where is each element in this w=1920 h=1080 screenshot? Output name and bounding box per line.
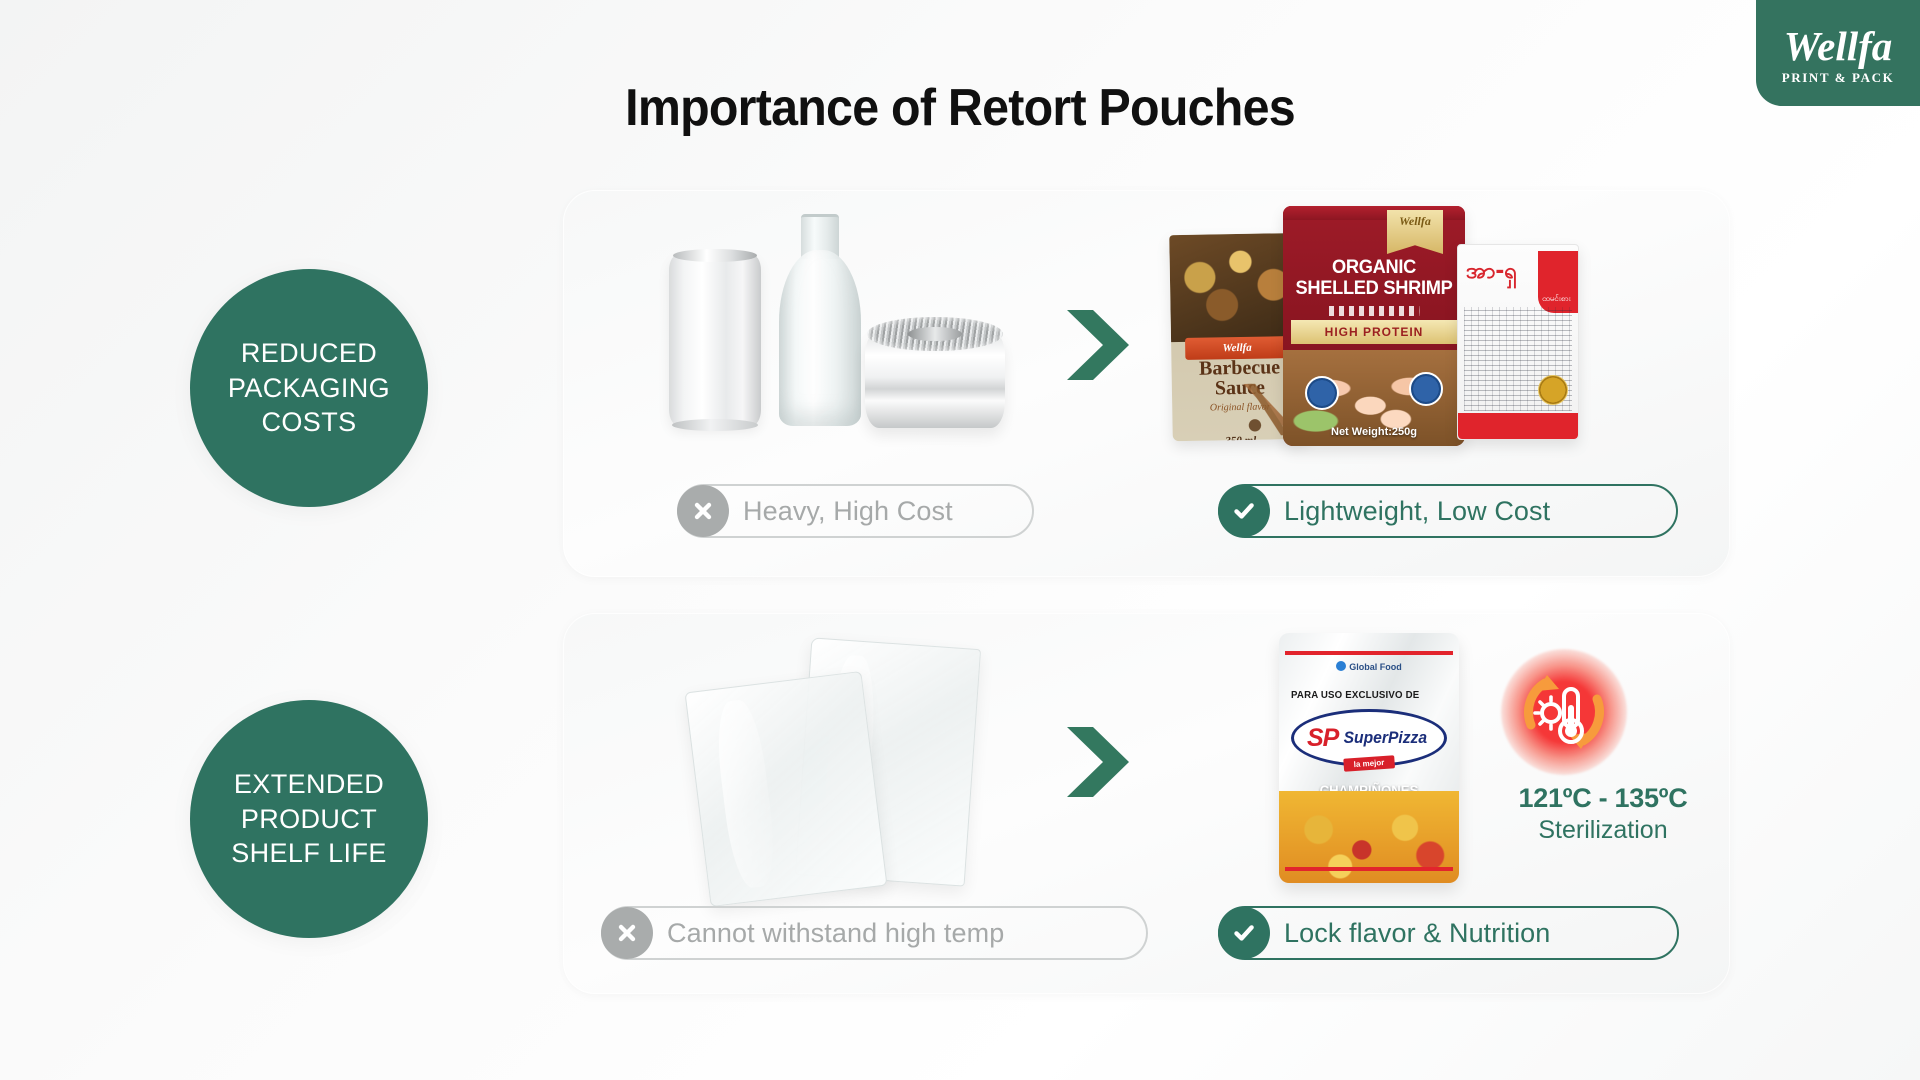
badge-label: Lock flavor & Nutrition	[1270, 918, 1572, 949]
check-circle-icon	[1218, 907, 1270, 959]
status-badge-heavy-high-cost: Heavy, High Cost	[677, 484, 1034, 538]
sterilization-label: Sterilization	[1488, 816, 1718, 845]
circle-label-line-2: PACKAGING	[228, 371, 390, 406]
myanmar-script-text: အာ-ရှ	[1466, 261, 1536, 299]
shrimp-title-line-2: SHELLED SHRIMP	[1287, 279, 1462, 300]
retort-pouches-group-1: Wellfa Barbecue Sauce Original flavor 35…	[1171, 198, 1639, 448]
badge-label: Heavy, High Cost	[729, 496, 975, 527]
badge-label: Cannot withstand high temp	[653, 918, 1026, 949]
shrimp-title-line-1: ORGANIC	[1287, 258, 1462, 279]
circle-label-line-3: SHELF LIFE	[231, 836, 387, 871]
shrimp-quality-seal-icon	[1305, 376, 1339, 410]
rigid-containers-group	[649, 208, 1009, 428]
anchor-seal-icon	[1409, 372, 1443, 406]
sterilization-callout: 121ºC - 135ºC Sterilization	[1488, 783, 1718, 845]
comparison-card-packaging-costs: Wellfa Barbecue Sauce Original flavor 35…	[563, 190, 1730, 577]
glass-bottle-image	[779, 214, 861, 426]
pizza-logo-name: SuperPizza	[1344, 728, 1427, 748]
aluminum-can-image	[669, 254, 761, 426]
pizza-logo-sp: SP	[1307, 724, 1338, 753]
check-circle-icon	[1218, 485, 1270, 537]
feature-circle-extended-product-shelf-life: EXTENDED PRODUCT SHELF LIFE	[190, 700, 428, 938]
superpizza-pouch-image: Global Food PARA USO EXCLUSIVO DE SP Sup…	[1279, 633, 1459, 883]
vacuum-bag-front-image	[685, 671, 888, 907]
x-circle-icon	[601, 907, 653, 959]
organic-shelled-shrimp-pouch-image: Wellfa ORGANIC SHELLED SHRIMP HIGH PROTE…	[1283, 206, 1465, 446]
status-badge-cannot-withstand-high-temp: Cannot withstand high temp	[601, 906, 1148, 960]
gold-seal-icon	[1538, 375, 1568, 405]
pizza-exclusive-line: PARA USO EXCLUSIVO DE	[1291, 689, 1419, 701]
x-circle-icon	[677, 485, 729, 537]
myanmar-tab-text: ထမင်းစား	[1542, 293, 1571, 305]
vacuum-bags-group	[675, 619, 1005, 909]
logo-wordmark: Wellfa	[1784, 26, 1893, 67]
status-badge-lock-flavor-nutrition: Lock flavor & Nutrition	[1218, 906, 1679, 960]
circle-label-line-3: COSTS	[228, 405, 390, 440]
heat-sterilization-icon	[1501, 649, 1627, 775]
shrimp-brand: Wellfa	[1399, 214, 1431, 229]
pizza-brand-small: Global Food	[1349, 662, 1402, 672]
page-title: Importance of Retort Pouches	[67, 78, 1853, 138]
feature-circle-reduced-packaging-costs: REDUCED PACKAGING COSTS	[190, 269, 428, 507]
myanmar-snack-pouch-image: ထမင်းစား အာ-ရှ	[1457, 244, 1579, 440]
pizza-ribbon: la mejor	[1343, 755, 1394, 772]
chevron-right-icon	[1063, 306, 1133, 384]
tin-can-image	[865, 330, 1005, 428]
comparison-card-shelf-life: Global Food PARA USO EXCLUSIVO DE SP Sup…	[563, 613, 1730, 994]
circle-label-line-1: REDUCED	[228, 336, 390, 371]
status-badge-lightweight-low-cost: Lightweight, Low Cost	[1218, 484, 1678, 538]
shrimp-banner: HIGH PROTEIN	[1291, 320, 1457, 344]
chevron-right-icon	[1063, 723, 1133, 801]
circle-label-line-2: PRODUCT	[231, 802, 387, 837]
shrimp-net-weight: Net Weight:250g	[1283, 426, 1465, 438]
badge-label: Lightweight, Low Cost	[1270, 496, 1572, 527]
sterilization-temperature-range: 121ºC - 135ºC	[1488, 783, 1718, 814]
circle-label-line-1: EXTENDED	[231, 767, 387, 802]
